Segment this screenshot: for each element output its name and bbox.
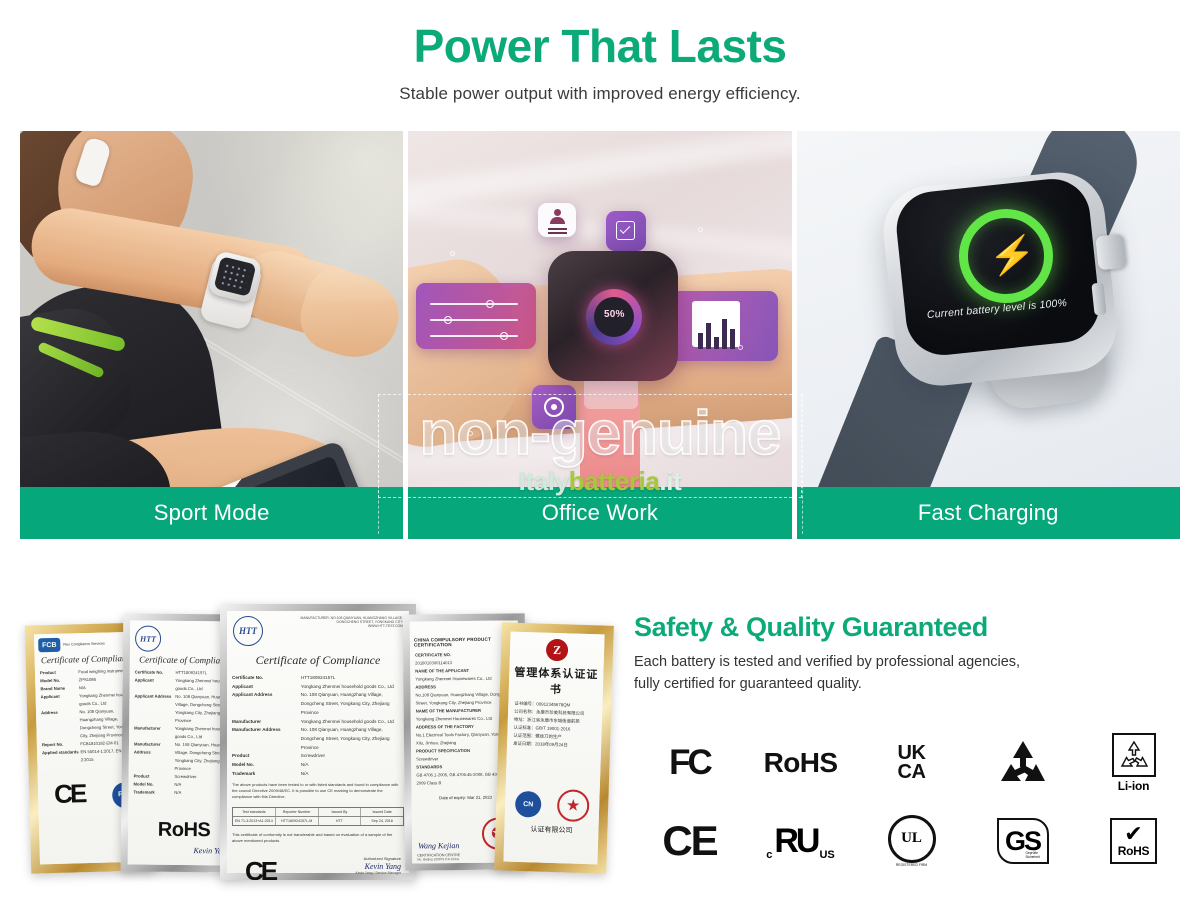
li-ion-box	[1112, 733, 1156, 777]
page-title: Power That Lasts	[0, 0, 1200, 70]
table-header-cell: Issued Date	[361, 808, 403, 816]
field-key: Applied standards	[42, 748, 81, 765]
ul-sub-label: REGISTERED FIRM	[896, 863, 927, 868]
certificate-paragraph: The above products have been tested to o…	[227, 779, 409, 804]
rohs-check-badge: ✔ RoHS	[1110, 818, 1157, 864]
sport-mode-photo	[20, 131, 403, 539]
ce-badge: CE	[662, 817, 716, 865]
feature-card-caption: Sport Mode	[20, 487, 403, 539]
ul-registered-badge: UL	[888, 815, 936, 863]
badge-cell: ✔ RoHS	[1078, 802, 1189, 880]
ui-panel-settings	[532, 385, 576, 429]
certificate-note: This certificate of conformity is not tr…	[227, 829, 409, 848]
badge-cell	[967, 724, 1078, 802]
field-key: Trademark	[232, 770, 301, 779]
safety-body-line: Each battery is tested and verified by p…	[634, 651, 1186, 673]
certification-badge-grid: FC RoHS UK CA	[634, 724, 1190, 880]
field-value: HTT180924157L	[301, 674, 404, 683]
field-key: Applicant	[41, 692, 80, 709]
field-value: Yongkang Zhenmei household goods Co., Lt…	[301, 683, 404, 692]
certificate-issuer-line: Flex Compliance Services	[63, 641, 105, 647]
badge-cell: UL REGISTERED FIRM	[856, 802, 967, 880]
fcb-logo: FCB	[38, 638, 60, 653]
certificate-fields: Certificate No.HTT180924157L ApplicantYo…	[227, 674, 409, 779]
feature-card-row: Sport Mode	[20, 131, 1180, 539]
feature-card-fast-charging[interactable]: ⚡ Current battery level is 100% Fast Cha…	[797, 131, 1180, 539]
rohs-badge: RoHS	[764, 747, 838, 779]
field-value: Screwdriver	[301, 752, 404, 761]
badge-row-2: CE c RU US UL REGISTERED FIRM	[634, 802, 1190, 880]
cruus-suffix: US	[819, 849, 834, 861]
table-cell: HTT	[319, 817, 362, 825]
ce-mark: CE	[44, 778, 85, 810]
field-key: Applicant Address	[232, 691, 301, 717]
certificate-fields: 证书编号：00912345678QM 公司名称：永康市珍美科技有限公司 地址：浙…	[507, 700, 602, 751]
cqc-logo: Z	[546, 639, 569, 662]
field-key: Manufacturer Address	[134, 740, 175, 772]
field-key: Applicant	[232, 683, 301, 692]
badge-cell: Li-ion	[1078, 724, 1189, 802]
feature-card-caption: Office Work	[408, 487, 791, 539]
ul-label: UL	[901, 830, 922, 847]
signature-role: Kevin Yang / Service Manager	[356, 871, 402, 875]
table-cell: EN 71-3:2013+A1:2014	[233, 817, 276, 825]
badge-row-1: FC RoHS UK CA	[634, 724, 1190, 802]
certificate-header-line: WWW.HTT-TEST.COM	[301, 624, 404, 628]
field-key: Address	[41, 708, 80, 741]
field-key: Certificate No.	[232, 674, 301, 683]
recycle-outline-icon	[1118, 739, 1150, 771]
field-value: No. 108 Qianyuan, Huangzhang Village, Do…	[301, 726, 404, 752]
ce-mark: CE	[235, 856, 275, 880]
checkmark-icon: ✔	[1124, 824, 1142, 844]
cruus-prefix: c	[766, 849, 772, 861]
badge-cell: UK CA	[856, 724, 967, 802]
field-key: Manufacturer	[134, 724, 175, 740]
ukca-label-bottom: CA	[898, 763, 926, 782]
certificate-title: 管理体系认证证书	[508, 660, 603, 703]
fcc-badge: FC	[669, 743, 710, 783]
field-value: No. 108 Qianyuan, Huangzhang Village, Do…	[301, 691, 404, 717]
field-key: Product	[232, 752, 301, 761]
ui-panel-chart	[666, 291, 778, 361]
badge-cell: RoHS	[745, 724, 856, 802]
field-key: Trademark	[133, 788, 174, 796]
badge-cell: GS Geprüfte Sicherheit	[967, 802, 1078, 880]
field-value: N/A	[301, 770, 404, 779]
htt-logo: HTT	[233, 616, 263, 646]
ui-panel-sliders	[416, 283, 536, 349]
field-key: Manufacturer	[232, 718, 301, 727]
safety-title: Safety & Quality Guaranteed	[634, 612, 1186, 643]
ui-panel-checkbox	[606, 211, 646, 251]
table-header-cell: Test standards	[233, 808, 276, 816]
office-work-photo: 50%	[408, 131, 791, 539]
ui-panel-contact	[538, 203, 576, 237]
safety-section: Safety & Quality Guaranteed Each battery…	[634, 612, 1186, 696]
li-ion-label: Li-ion	[1118, 777, 1149, 793]
field-key: Manufacturer Address	[232, 726, 301, 752]
table-cell: Sep 24, 2018	[361, 817, 403, 825]
recycle-icon	[997, 739, 1049, 787]
li-ion-recycle-badge: Li-ion	[1112, 733, 1156, 793]
field-key: Model No.	[232, 761, 301, 770]
certificate-china-management-system[interactable]: Z 管理体系认证证书 证书编号：00912345678QM 公司名称：永康市珍美…	[494, 622, 614, 873]
rohs-check-label: RoHS	[1118, 844, 1149, 858]
safety-body-line: fully certified for guaranteed quality.	[634, 673, 1186, 695]
field-key: Applicant Address	[134, 692, 175, 724]
watch-crown	[1095, 234, 1126, 271]
feature-card-caption: Fast Charging	[797, 487, 1180, 539]
field-value: Yongkang Zhenmei household goods Co., Lt…	[301, 718, 404, 727]
table-cell: HTT180924157L-M	[276, 817, 319, 825]
certificate-signature: Wang Kejian	[418, 841, 459, 850]
battery-percentage-label: 50%	[594, 309, 634, 320]
certificate-test-table: Test standards Reporter Number Issued By…	[232, 807, 404, 826]
certificate-org: 认证有限公司	[504, 819, 598, 836]
certificate-title: Certificate of Compliance	[227, 646, 409, 674]
table-header-cell: Reporter Number	[276, 808, 319, 816]
gs-sub-label: Geprüfte Sicherheit	[1026, 851, 1044, 859]
table-header-cell: Issued By	[319, 808, 362, 816]
page-subtitle: Stable power output with improved energy…	[0, 70, 1200, 104]
certification-seal: CN	[515, 791, 542, 818]
safety-body: Each battery is tested and verified by p…	[634, 643, 1186, 696]
certificate-htt-compliance-main[interactable]: HTT MANUFACTURER: NO.108 QIANYUAN, HUANG…	[220, 604, 416, 880]
feature-card-sport-mode[interactable]: Sport Mode	[20, 131, 403, 539]
page-header: Power That Lasts Stable power output wit…	[0, 0, 1200, 104]
badge-cell: CE	[634, 802, 745, 880]
marketing-infographic-page: Power That Lasts Stable power output wit…	[0, 0, 1200, 900]
cruus-mark: RU	[774, 822, 817, 861]
gs-badge: GS Geprüfte Sicherheit	[997, 818, 1049, 864]
certificate-gallery: FCB Flex Compliance Services Certificate…	[14, 596, 614, 886]
field-value: N/A	[301, 761, 404, 770]
certification-seal: ★	[557, 789, 590, 822]
feature-card-office-work[interactable]: 50% Office Work	[408, 131, 791, 539]
lightning-bolt-icon: ⚡	[989, 234, 1023, 278]
fast-charging-photo: ⚡ Current battery level is 100%	[797, 131, 1180, 539]
ukca-badge: UK CA	[898, 744, 926, 782]
c-ru-us-badge: c RU US	[766, 822, 835, 861]
field-key: Applicant	[135, 676, 176, 692]
badge-cell: FC	[634, 724, 745, 802]
badge-cell: c RU US	[745, 802, 856, 880]
certificate-signature: Kevin Yang	[356, 861, 402, 871]
htt-logo: HTT	[135, 625, 161, 651]
